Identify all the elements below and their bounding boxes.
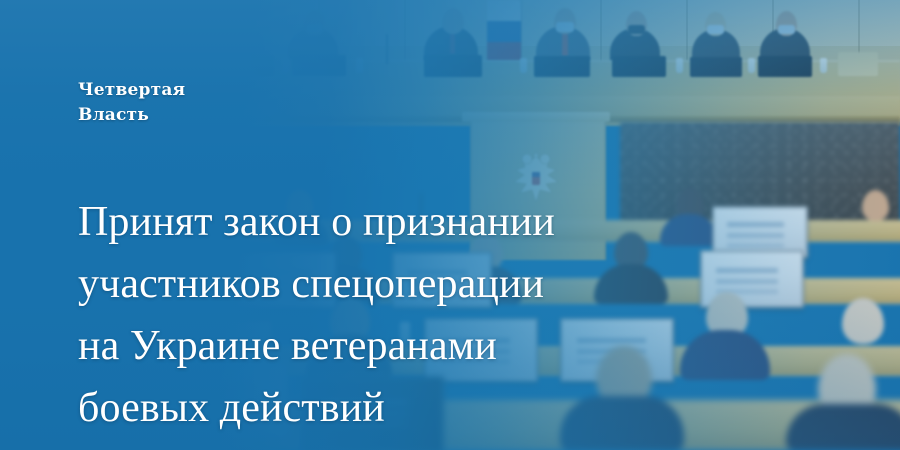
headline-line-1: Принят закон о признании xyxy=(78,191,758,253)
article-headline[interactable]: Принят закон о признании участников спец… xyxy=(78,191,758,439)
headline-line-4: боевых действий xyxy=(78,377,758,439)
headline-line-2: участников спецоперации xyxy=(78,253,758,315)
headline-line-3: на Украине ветеранами xyxy=(78,315,758,377)
site-logo[interactable]: Четвертая Власть xyxy=(78,78,438,128)
hero-content: Четвертая Власть Принят закон о признани… xyxy=(0,0,900,450)
article-hero-card: Четвертая Власть Принят закон о признани… xyxy=(0,0,900,450)
site-logo-line-1: Четвертая xyxy=(78,78,438,103)
site-logo-line-2: Власть xyxy=(78,103,438,128)
